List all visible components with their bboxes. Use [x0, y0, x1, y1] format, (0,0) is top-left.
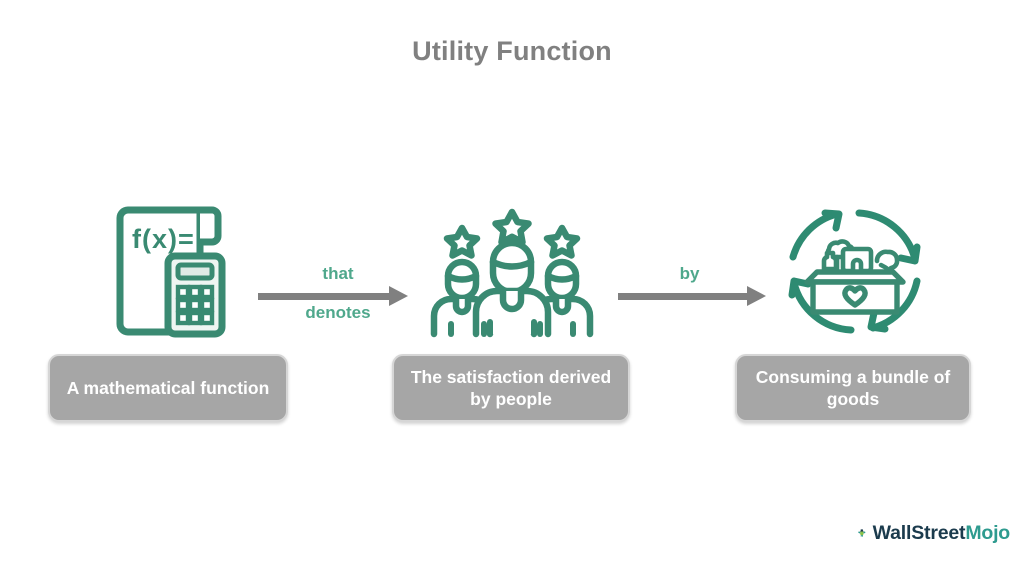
page-title: Utility Function	[0, 36, 1024, 67]
step-label-box-2: The satisfaction derived by people	[392, 354, 630, 422]
logo-text-primary: WallStreet	[873, 522, 966, 544]
step-label-text-2: The satisfaction derived by people	[404, 366, 618, 411]
step-label-box-3: Consuming a bundle of goods	[735, 354, 971, 422]
step-label-text-3: Consuming a bundle of goods	[747, 366, 959, 411]
connector-2-line	[618, 293, 748, 300]
connector-1-line	[258, 293, 390, 300]
step-label-box-1: A mathematical function	[48, 354, 288, 422]
wallstreetmojo-logo[interactable]: WallStreetMojo	[858, 512, 1010, 554]
diagram-canvas: Utility Function f(x)=	[0, 0, 1024, 563]
calculator-formula-icon: f(x)=	[48, 196, 288, 348]
flow-step-2: The satisfaction derived by people	[392, 196, 632, 436]
goods-basket-recycle-icon	[735, 196, 975, 348]
svg-text:f(x)=: f(x)=	[132, 224, 195, 254]
flow-step-1: f(x)= A mathema	[48, 196, 288, 436]
step-label-text-1: A mathematical function	[67, 377, 270, 399]
flow-step-3: Consuming a bundle of goods	[735, 196, 975, 436]
people-with-stars-icon	[392, 196, 632, 348]
logo-text-accent: Mojo	[965, 522, 1010, 544]
wallstreetmojo-mascot-icon	[858, 515, 866, 551]
logo-wordmark: WallStreetMojo	[873, 522, 1010, 545]
